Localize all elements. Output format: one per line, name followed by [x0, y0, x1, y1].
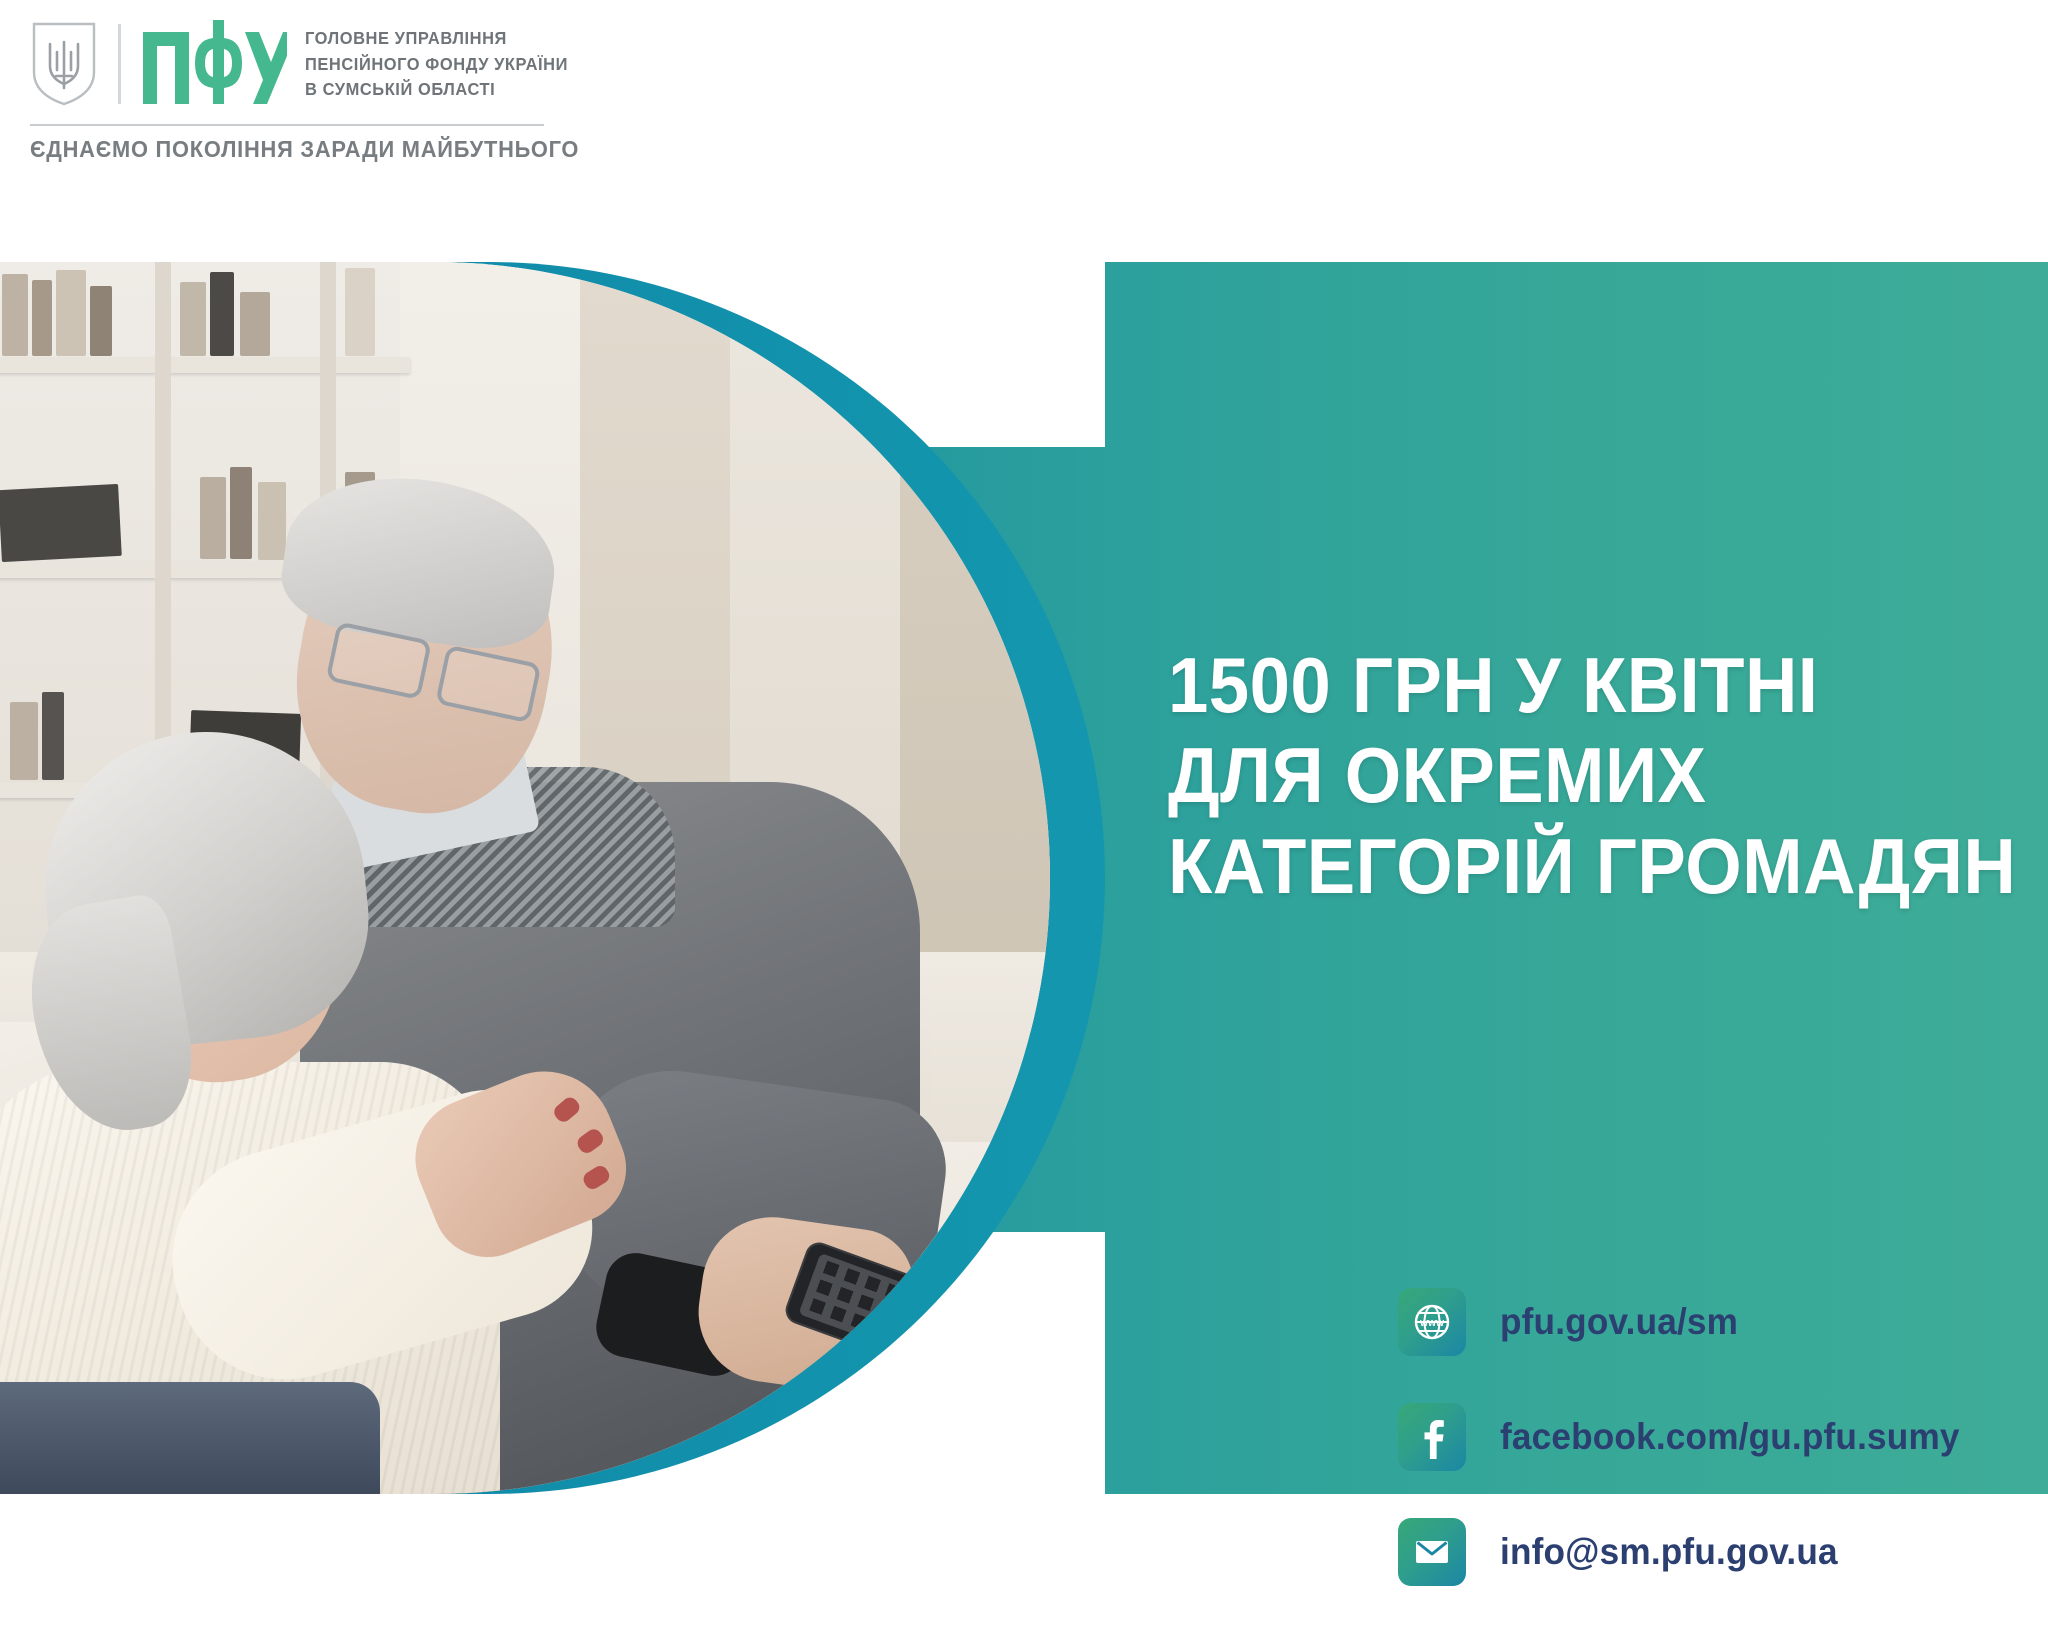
org-line-3: В СУМСЬКІЙ ОБЛАСТІ — [305, 78, 568, 100]
contact-facebook-label: facebook.com/gu.pfu.sumy — [1500, 1416, 1960, 1458]
headline-line-3: КАТЕГОРІЙ ГРОМАДЯН — [1168, 821, 1949, 911]
org-name-block: ГОЛОВНЕ УПРАВЛІННЯ ПЕНСІЙНОГО ФОНДУ УКРА… — [305, 27, 585, 100]
ukraine-trident-shield-icon — [32, 22, 96, 106]
logo-divider — [118, 24, 121, 104]
facebook-icon — [1398, 1403, 1466, 1471]
headline-line-1: 1500 ГРН У КВІТНІ — [1168, 640, 1949, 730]
contact-website-label: pfu.gov.ua/sm — [1500, 1301, 1738, 1343]
headline-line-2: ДЛЯ ОКРЕМИХ — [1168, 730, 1949, 820]
contact-list: WWW pfu.gov.ua/sm facebook.com/gu.pfu.su… — [1398, 1288, 1984, 1586]
org-line-2: ПЕНСІЙНОГО ФОНДУ УКРАЇНИ — [305, 53, 568, 75]
logo-row: ГОЛОВНЕ УПРАВЛІННЯ ПЕНСІЙНОГО ФОНДУ УКРА… — [26, 8, 571, 120]
contact-email-label: info@sm.pfu.gov.ua — [1500, 1531, 1838, 1573]
svg-text:WWW: WWW — [1420, 1318, 1445, 1328]
contact-email[interactable]: info@sm.pfu.gov.ua — [1398, 1518, 1984, 1586]
header-divider — [30, 124, 544, 126]
strapline: ЄДНАЄМО ПОКОЛІННЯ ЗАРАДИ МАЙБУТНЬОГО — [30, 136, 579, 163]
pfu-monogram-icon — [141, 18, 287, 110]
poster: ГОЛОВНЕ УПРАВЛІННЯ ПЕНСІЙНОГО ФОНДУ УКРА… — [0, 0, 2048, 1628]
org-line-1: ГОЛОВНЕ УПРАВЛІННЯ — [305, 27, 568, 49]
globe-www-icon: WWW — [1398, 1288, 1466, 1356]
contact-website[interactable]: WWW pfu.gov.ua/sm — [1398, 1288, 1984, 1356]
headline: 1500 ГРН У КВІТНІ ДЛЯ ОКРЕМИХ КАТЕГОРІЙ … — [1168, 640, 2008, 911]
hero-photo — [0, 262, 1050, 1494]
email-envelope-icon — [1398, 1518, 1466, 1586]
contact-facebook[interactable]: facebook.com/gu.pfu.sumy — [1398, 1403, 1984, 1471]
